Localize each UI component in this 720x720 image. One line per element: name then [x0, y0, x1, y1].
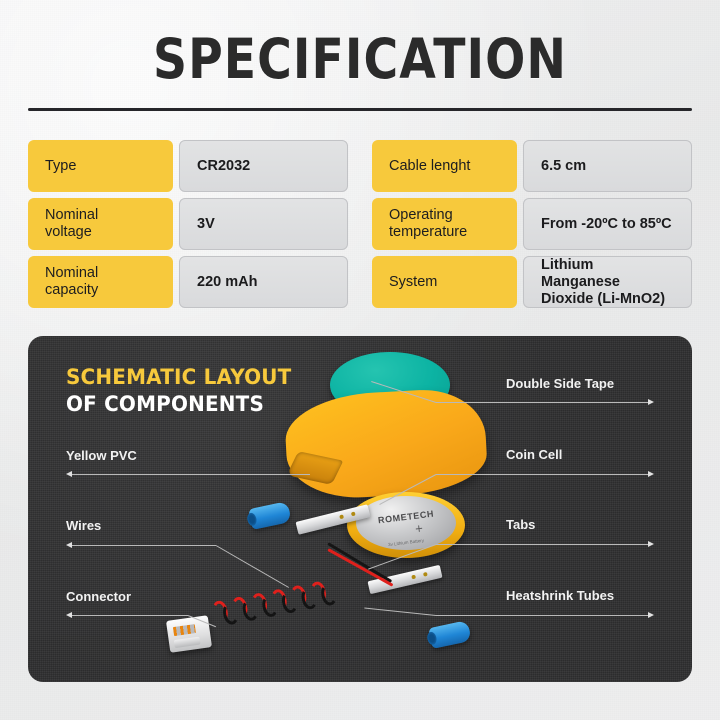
spec-value-text-line1: Lithium Manganese	[541, 257, 674, 291]
callout-label-heatshrink-tubes: Heatshrink Tubes	[506, 588, 614, 603]
spec-label-operating-temperature: Operating temperature	[372, 198, 517, 250]
callout-arrow-tabs	[648, 541, 654, 547]
connector-part	[166, 615, 212, 653]
heatshrink-tube-lower	[428, 620, 471, 649]
spec-value-text-line2: Dioxide (Li-MnO2)	[541, 291, 674, 308]
spec-label-type: Type	[28, 140, 173, 192]
callout-leader-yellow-pvc	[72, 474, 310, 475]
spec-value-text: 3V	[197, 216, 215, 233]
twisted-wire-pair	[211, 578, 340, 628]
callout-leader-heatshrink-tubes	[436, 615, 648, 616]
spec-label-text-line1: Operating	[389, 207, 467, 224]
callout-label-double-side-tape: Double Side Tape	[506, 376, 614, 391]
spec-label-text-line1: Nominal	[45, 207, 98, 224]
callout-label-yellow-pvc: Yellow PVC	[66, 448, 137, 463]
callout-label-tabs: Tabs	[506, 517, 535, 532]
spec-label-text-line1: Nominal	[45, 265, 98, 282]
callout-leader-wires	[72, 545, 216, 546]
spec-row-nominal-voltage: Nominal voltage 3V	[28, 198, 348, 250]
callout-leader-coin-cell	[436, 474, 648, 475]
page-title: SPECIFICATION	[50, 28, 669, 90]
spec-label-text: Cable lenght	[389, 158, 470, 175]
spec-label-text-line2: temperature	[389, 224, 467, 241]
infographic-page: SPECIFICATION Type CR2032 Cable lenght 6…	[0, 0, 720, 720]
spec-row-cable-length: Cable lenght 6.5 cm	[372, 140, 692, 192]
spec-label-text-line2: voltage	[45, 224, 98, 241]
callout-arrow-yellow-pvc	[66, 471, 72, 477]
spec-label-nominal-capacity: Nominal capacity	[28, 256, 173, 308]
callout-arrow-wires	[66, 542, 72, 548]
spec-value-text: 220 mAh	[197, 274, 257, 291]
callout-leader-tabs	[436, 544, 648, 545]
spec-row-type: Type CR2032	[28, 140, 348, 192]
spec-value-nominal-voltage: 3V	[179, 198, 348, 250]
spec-value-cable-length: 6.5 cm	[523, 140, 692, 192]
coin-cell-brand: ROMETECH	[356, 506, 456, 528]
coin-cell-face: ROMETECH + 3v Lithium Battery	[356, 496, 456, 550]
callout-arrow-double-side-tape	[648, 399, 654, 405]
schematic-panel: SCHEMATIC LAYOUT OF COMPONENTS ROMETECH …	[28, 336, 692, 682]
spec-row-system: System Lithium Manganese Dioxide (Li-MnO…	[372, 256, 692, 308]
title-divider	[28, 108, 692, 111]
specification-table: Type CR2032 Cable lenght 6.5 cm Nominal …	[28, 140, 692, 308]
spec-value-system: Lithium Manganese Dioxide (Li-MnO2)	[523, 256, 692, 308]
callout-leader-double-side-tape	[436, 402, 648, 403]
spec-row-nominal-capacity: Nominal capacity 220 mAh	[28, 256, 348, 308]
callout-arrow-connector	[66, 612, 72, 618]
spec-value-text: From -20ºC to 85ºC	[541, 216, 672, 233]
spec-value-nominal-capacity: 220 mAh	[179, 256, 348, 308]
spec-value-type: CR2032	[179, 140, 348, 192]
spec-value-text: 6.5 cm	[541, 158, 586, 175]
callout-label-connector: Connector	[66, 589, 131, 604]
spec-label-nominal-voltage: Nominal voltage	[28, 198, 173, 250]
spec-label-text-line2: capacity	[45, 282, 98, 299]
spec-label-text: Type	[45, 158, 76, 175]
yellow-pvc-part	[283, 387, 488, 501]
spec-label-text: System	[389, 274, 437, 291]
spec-label-cable-length: Cable lenght	[372, 140, 517, 192]
callout-leader-connector	[72, 615, 188, 616]
spec-value-operating-temperature: From -20ºC to 85ºC	[523, 198, 692, 250]
callout-label-coin-cell: Coin Cell	[506, 447, 562, 462]
callout-arrow-heatshrink-tubes	[648, 612, 654, 618]
callout-arrow-coin-cell	[648, 471, 654, 477]
coin-cell-polarity: +	[407, 522, 430, 537]
spec-label-system: System	[372, 256, 517, 308]
heatshrink-tube-upper	[248, 501, 291, 530]
callout-label-wires: Wires	[66, 518, 101, 533]
spec-row-operating-temperature: Operating temperature From -20ºC to 85ºC	[372, 198, 692, 250]
spec-value-text: CR2032	[197, 158, 250, 175]
